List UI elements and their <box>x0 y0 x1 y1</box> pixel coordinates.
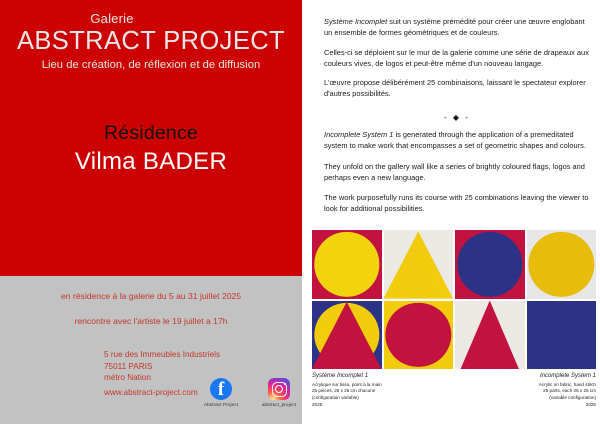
en-work-title: Incomplete System 1 <box>324 130 393 139</box>
left-column: Galerie ABSTRACT PROJECT Lieu de créatio… <box>0 0 302 424</box>
instagram-label: abstract_project <box>258 402 300 407</box>
caption-fr-line1: Acrylique sur tissu, point à la main <box>312 382 382 389</box>
tile-2-triangle <box>384 230 454 299</box>
gallery-masthead: Galerie ABSTRACT PROJECT Lieu de créatio… <box>0 12 302 72</box>
residency-dates: en résidence à la galerie du 5 au 31 jui… <box>0 290 302 302</box>
right-column: Système Incomplet suit un système préméd… <box>324 0 594 424</box>
caption-en-line2: 25 parts, each 25 x 25 cm <box>539 388 596 395</box>
tile-4-circle <box>529 232 594 296</box>
en-paragraph-2: They unfold on the gallery wall like a s… <box>324 161 590 184</box>
address-street: 5 rue des Immeubles Industriels <box>104 349 220 361</box>
en-paragraph-3: The work purposefully runs its course wi… <box>324 192 590 215</box>
artwork-tile-3 <box>455 230 525 299</box>
address-city: 75011 PARIS <box>104 361 220 373</box>
french-text-block: Système Incomplet suit un système préméd… <box>324 16 590 108</box>
gallery-name: ABSTRACT PROJECT <box>0 27 302 56</box>
caption-french: Système Incomplet 1 Acrylique sur tissu,… <box>312 372 382 409</box>
tile-6-circle <box>386 303 451 367</box>
facebook-link[interactable]: f Abstract Project <box>200 378 242 407</box>
facebook-icon[interactable]: f <box>210 378 232 400</box>
artwork-tile-2 <box>384 230 454 299</box>
instagram-icon[interactable] <box>268 378 290 400</box>
artwork-tile-6 <box>384 301 454 370</box>
caption-en-year: 2025 <box>539 402 596 409</box>
tile-7-triangle <box>455 301 525 370</box>
fr-work-title: Système Incomplet <box>324 17 387 26</box>
instagram-dot <box>284 383 286 385</box>
artist-meeting: rencontre avec l'artiste le 19 juillet a… <box>0 315 302 327</box>
website-link[interactable]: www.abstract-project.com <box>104 388 198 399</box>
fr-paragraph-1: Système Incomplet suit un système préméd… <box>324 16 590 39</box>
instagram-link[interactable]: abstract_project <box>258 378 300 407</box>
facebook-f-glyph: f <box>210 378 232 400</box>
artwork-captions: Système Incomplet 1 Acrylique sur tissu,… <box>312 372 596 409</box>
artwork-tile-7 <box>455 301 525 370</box>
fr-paragraph-3: L'œuvre propose délibérément 25 combinai… <box>324 77 590 100</box>
artist-name: Vilma BADER <box>0 147 302 177</box>
gallery-eyebrow: Galerie <box>0 12 302 26</box>
caption-fr-line3: (configuration variable) <box>312 395 382 402</box>
artwork-tile-5 <box>312 301 382 370</box>
gallery-tagline: Lieu de création, de réflexion et de dif… <box>0 59 302 72</box>
artwork-grid <box>312 230 596 369</box>
caption-en-title: Incomplete System 1 <box>539 372 596 381</box>
residence-block: Résidence Vilma BADER <box>0 122 302 177</box>
fr-paragraph-2: Celles-ci se déploient sur le mur de la … <box>324 47 590 70</box>
instagram-lens <box>275 385 283 393</box>
caption-fr-line2: 25 pièces, 25 x 25 cm chacune <box>312 388 382 395</box>
tile-3-circle <box>457 232 522 296</box>
social-links: f Abstract Project abstract_project <box>200 378 300 407</box>
tile-1-circle <box>314 232 379 296</box>
en-paragraph-1: Incomplete System 1 is generated through… <box>324 129 590 152</box>
caption-fr-title: Système Incomplet 1 <box>312 372 382 381</box>
caption-en-line3: (variable configuration) <box>539 395 596 402</box>
caption-fr-year: 2025 <box>312 402 382 409</box>
artwork-tile-4 <box>527 230 597 299</box>
residence-label: Résidence <box>0 122 302 145</box>
artwork-tile-8 <box>527 301 597 370</box>
tile-8-texture <box>527 301 597 370</box>
facebook-label: Abstract Project <box>200 402 242 407</box>
english-text-block: Incomplete System 1 is generated through… <box>324 129 590 224</box>
poster-page: Galerie ABSTRACT PROJECT Lieu de créatio… <box>0 0 600 424</box>
caption-english: Incomplete System 1 Acrylic on fabric, h… <box>539 372 596 409</box>
section-divider: - ◆ - <box>324 113 590 122</box>
dates-block: en résidence à la galerie du 5 au 31 jui… <box>0 290 302 327</box>
artwork-tile-1 <box>312 230 382 299</box>
caption-en-line1: Acrylic on fabric, hand stitch <box>539 382 596 389</box>
